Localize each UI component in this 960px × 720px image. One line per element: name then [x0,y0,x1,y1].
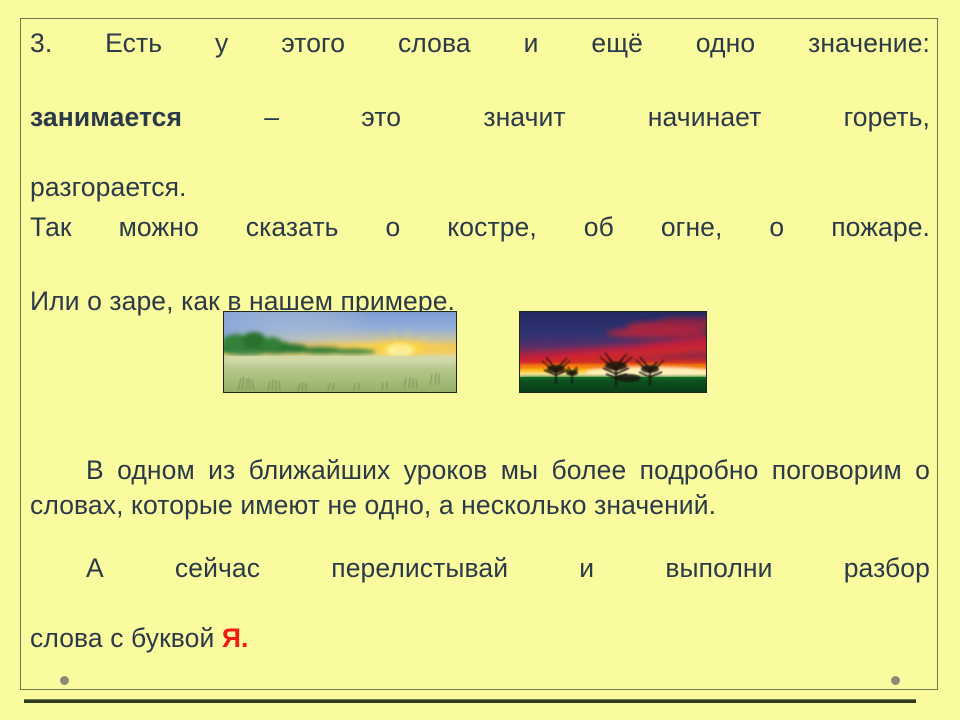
paragraph-1: 3. Есть у этого слова и ещё одно значени… [30,26,930,96]
text-body-lower: В одном из ближайших уроков мы более под… [30,453,930,661]
paragraph-5-text: В одном из ближайших уроков мы более под… [30,455,930,520]
decoration-bottom-rule [24,699,916,703]
highlight-letter-ya: Я. [222,623,249,653]
paragraph-5: В одном из ближайших уроков мы более под… [30,453,930,523]
paragraph-6-line-2: слова с буквой [30,623,222,653]
picture-sunrise-landscape [223,311,457,393]
decoration-dot-right [891,676,900,685]
text-body: 3. Есть у этого слова и ещё одно значени… [30,26,930,323]
paragraph-1-text: 3. Есть у этого слова и ещё одно значени… [30,26,930,96]
paragraph-6-line-1: А сейчас перелистывай и выполни разбор [30,551,930,621]
picture-sunset-landscape [519,311,707,393]
slide-frame: 3. Есть у этого слова и ещё одно значени… [20,18,938,690]
paragraph-2-line-1-rest: – это значит начинает гореть, [182,102,930,132]
paragraph-2-line-2: разгорается. [30,172,187,202]
paragraph-3: Так можно сказать о костре, об огне, о п… [30,210,930,280]
picture-row [21,311,939,393]
sunrise-illustration [224,312,457,393]
paragraph-2-line-1: занимается – это значит начинает гореть, [30,100,930,170]
decoration-dot-left [60,676,69,685]
paragraph-2: занимается – это значит начинает гореть,… [30,100,930,205]
sunset-illustration [520,312,707,393]
paragraph-6: А сейчас перелистывай и выполни разбор с… [30,551,930,656]
keyword-zanimaetsya: занимается [30,102,182,132]
paragraph-3-text: Так можно сказать о костре, об огне, о п… [30,210,930,280]
